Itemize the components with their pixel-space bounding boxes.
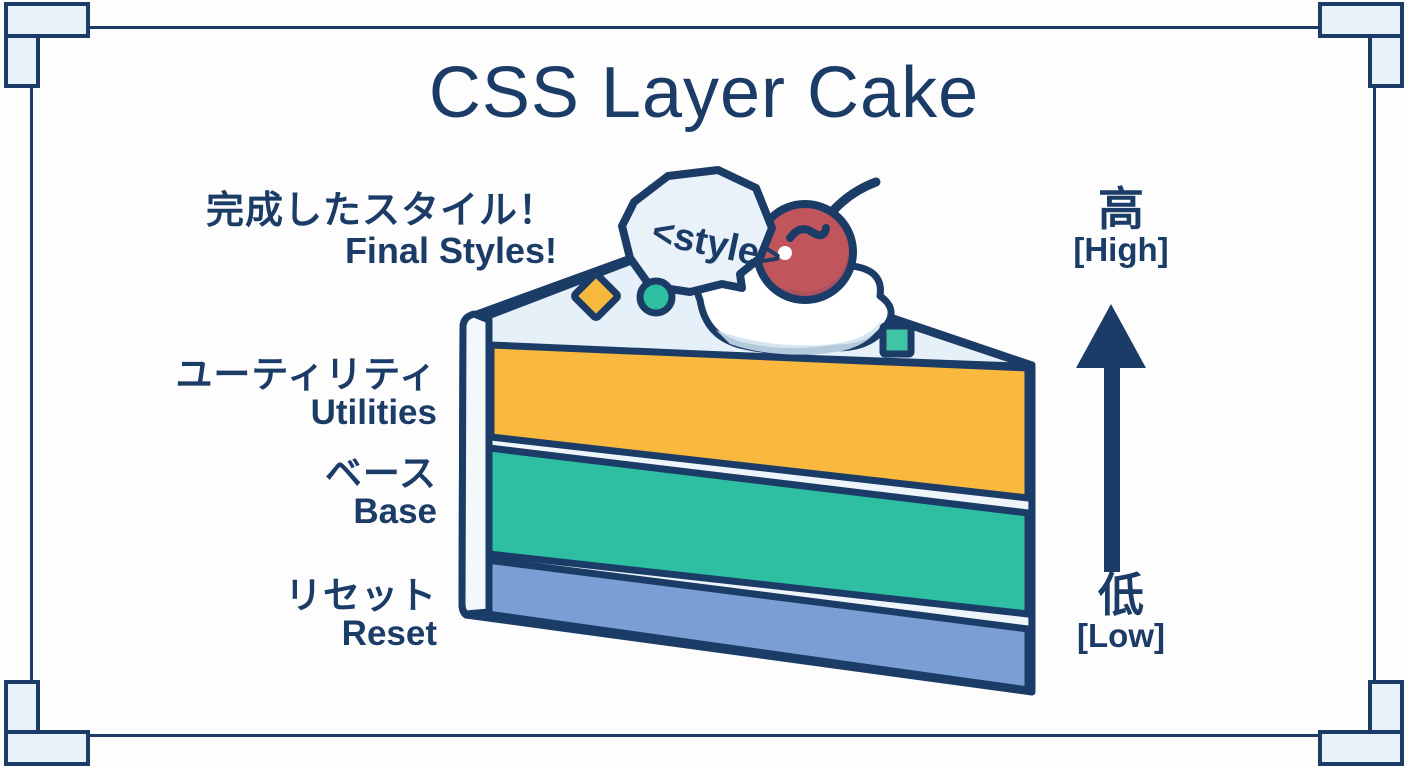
illustration-canvas: CSS Layer Cake <style> bbox=[0, 0, 1408, 768]
axis-label-high-jp: 高 bbox=[1026, 186, 1216, 233]
label-final-styles: 完成したスタイル！ Final Styles! bbox=[206, 192, 557, 270]
axis-label-low: 低 [Low] bbox=[1026, 572, 1216, 653]
bracket-arm-horizontal bbox=[4, 730, 90, 766]
label-base-en: Base bbox=[325, 494, 437, 531]
label-reset-en: Reset bbox=[285, 616, 437, 653]
axis-label-low-en: [Low] bbox=[1026, 619, 1216, 653]
label-final-styles-en: Final Styles! bbox=[206, 232, 557, 270]
label-utilities: ユーティリティ Utilities bbox=[175, 356, 437, 432]
axis-label-high: 高 [High] bbox=[1026, 186, 1216, 267]
bracket-arm-horizontal bbox=[1318, 730, 1404, 766]
corner-bracket-bottom-right bbox=[1318, 680, 1404, 766]
page-title: CSS Layer Cake bbox=[0, 57, 1408, 129]
label-final-styles-jp: 完成したスタイル！ bbox=[206, 192, 557, 232]
label-reset: リセット Reset bbox=[285, 577, 437, 653]
axis-label-low-jp: 低 bbox=[1026, 572, 1216, 619]
label-base: ベース Base bbox=[325, 455, 437, 531]
label-reset-jp: リセット bbox=[285, 577, 437, 616]
label-utilities-en: Utilities bbox=[175, 395, 437, 432]
bracket-arm-horizontal bbox=[1318, 2, 1404, 38]
corner-bracket-bottom-left bbox=[4, 680, 90, 766]
label-utilities-jp: ユーティリティ bbox=[175, 356, 437, 395]
axis-label-high-en: [High] bbox=[1026, 233, 1216, 267]
label-base-jp: ベース bbox=[325, 455, 437, 494]
bracket-arm-horizontal bbox=[4, 2, 90, 38]
